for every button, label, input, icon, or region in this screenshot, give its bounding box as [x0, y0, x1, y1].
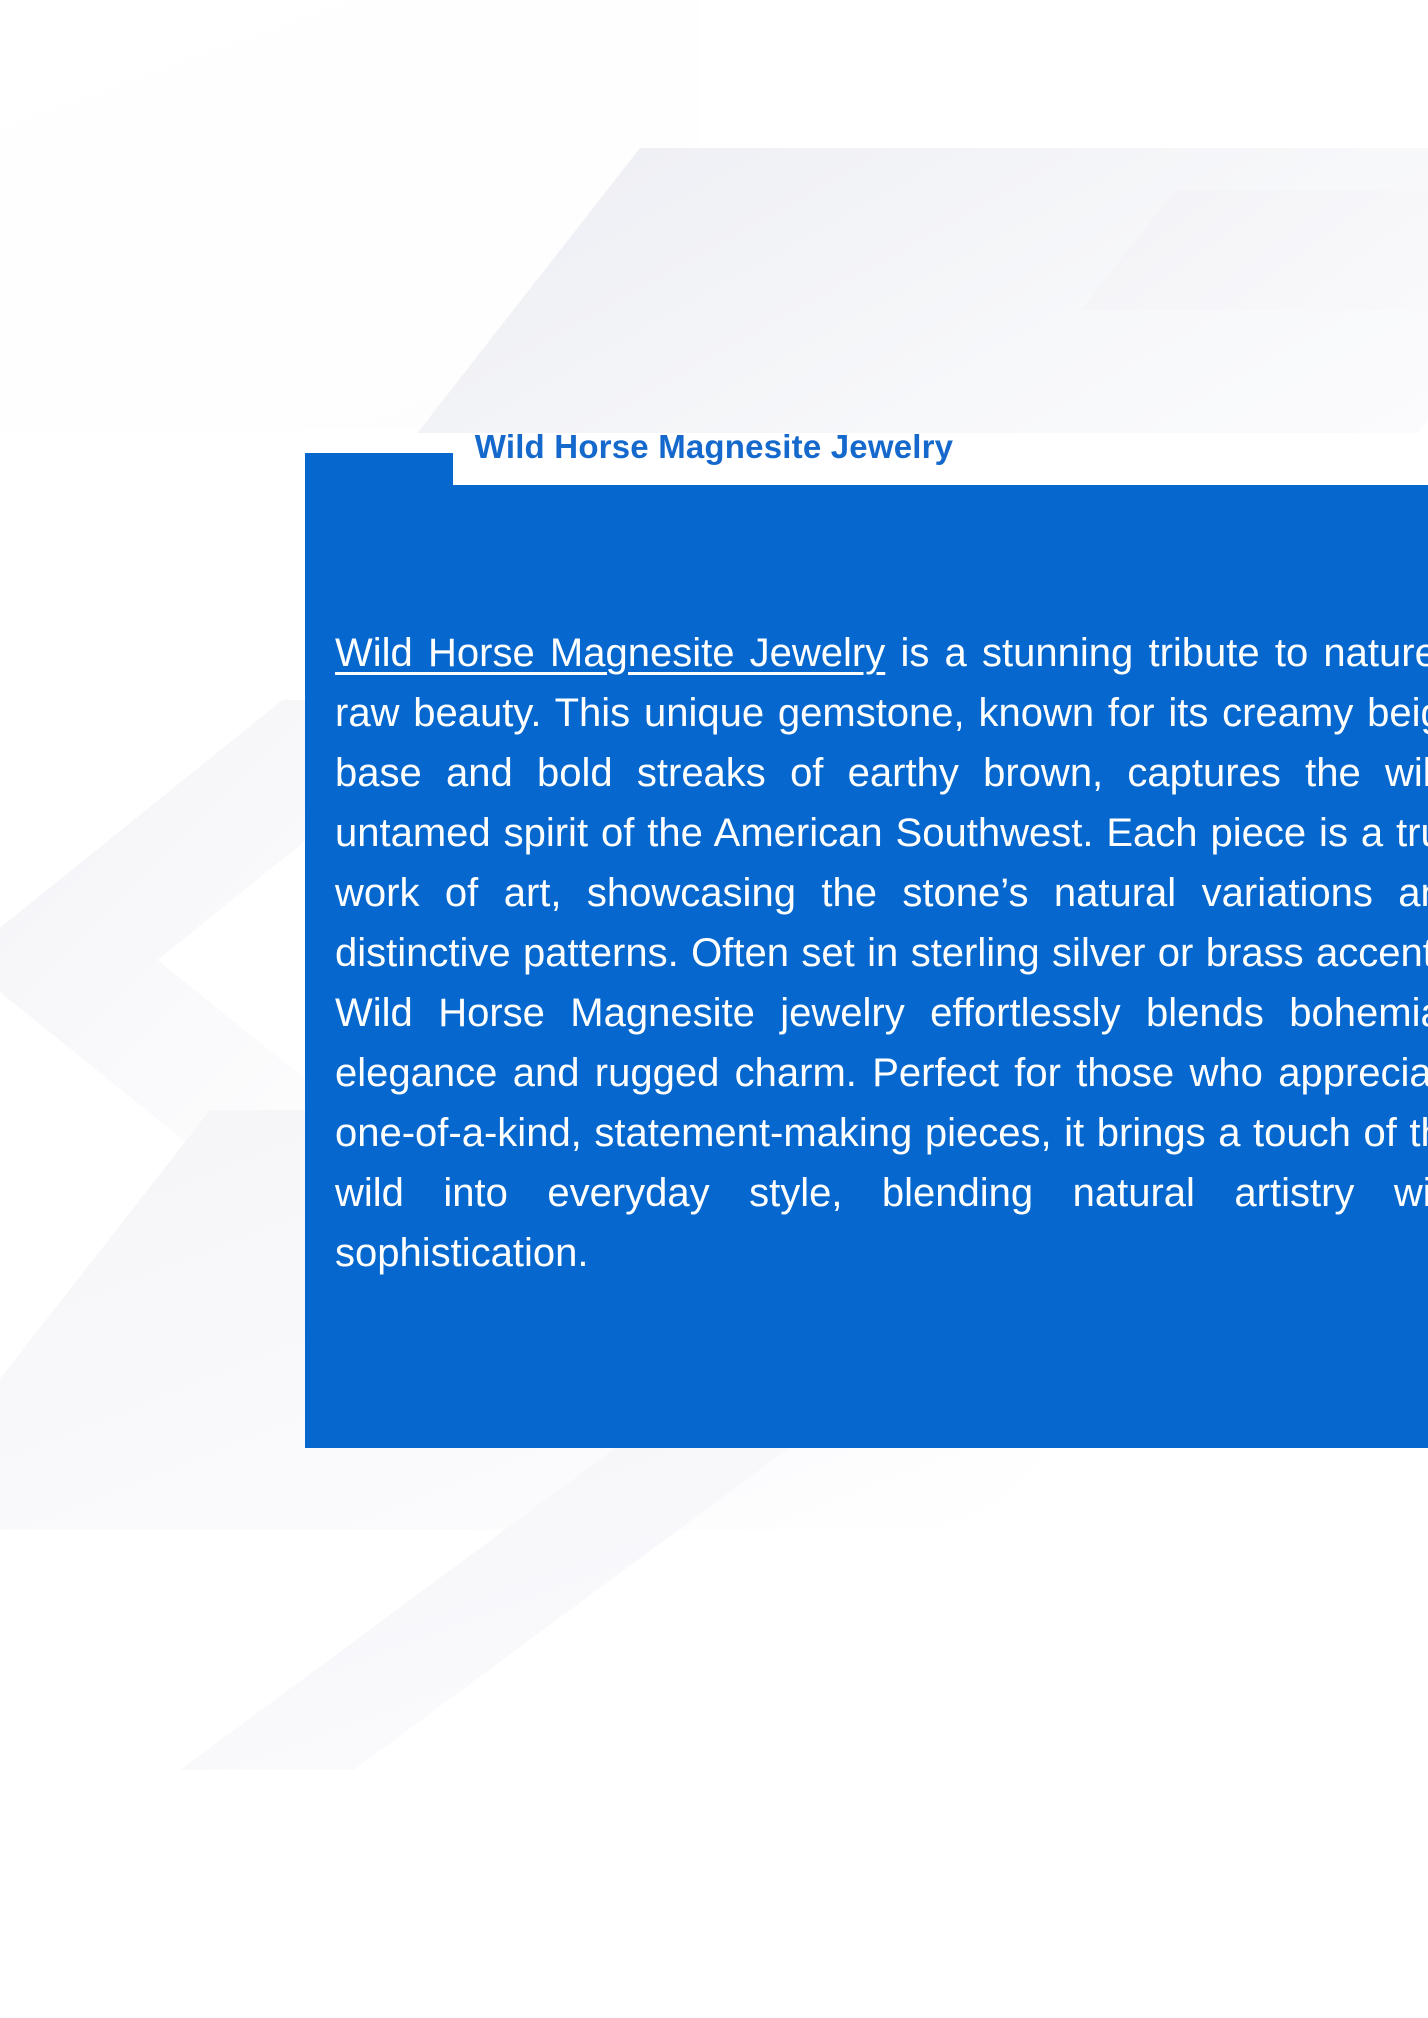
card-body-panel: Wild Horse Magnesite Jewelry is a stunni…	[305, 485, 1428, 1448]
background-wash-top-left	[0, 0, 700, 430]
background-triangle-lower	[180, 1440, 800, 1770]
content-card: Wild Horse Magnesite Jewelry is a stunni…	[305, 453, 1428, 1448]
page-title: Wild Horse Magnesite Jewelry	[0, 428, 1428, 466]
card-paragraph-rest: is a stunning tribute to nature’s raw be…	[335, 631, 1428, 1275]
background-parallelogram-top	[417, 148, 1428, 433]
background-wedge-right	[1081, 190, 1428, 310]
lead-link[interactable]: Wild Horse Magnesite Jewelry	[335, 631, 885, 675]
card-paragraph: Wild Horse Magnesite Jewelry is a stunni…	[335, 623, 1428, 1283]
